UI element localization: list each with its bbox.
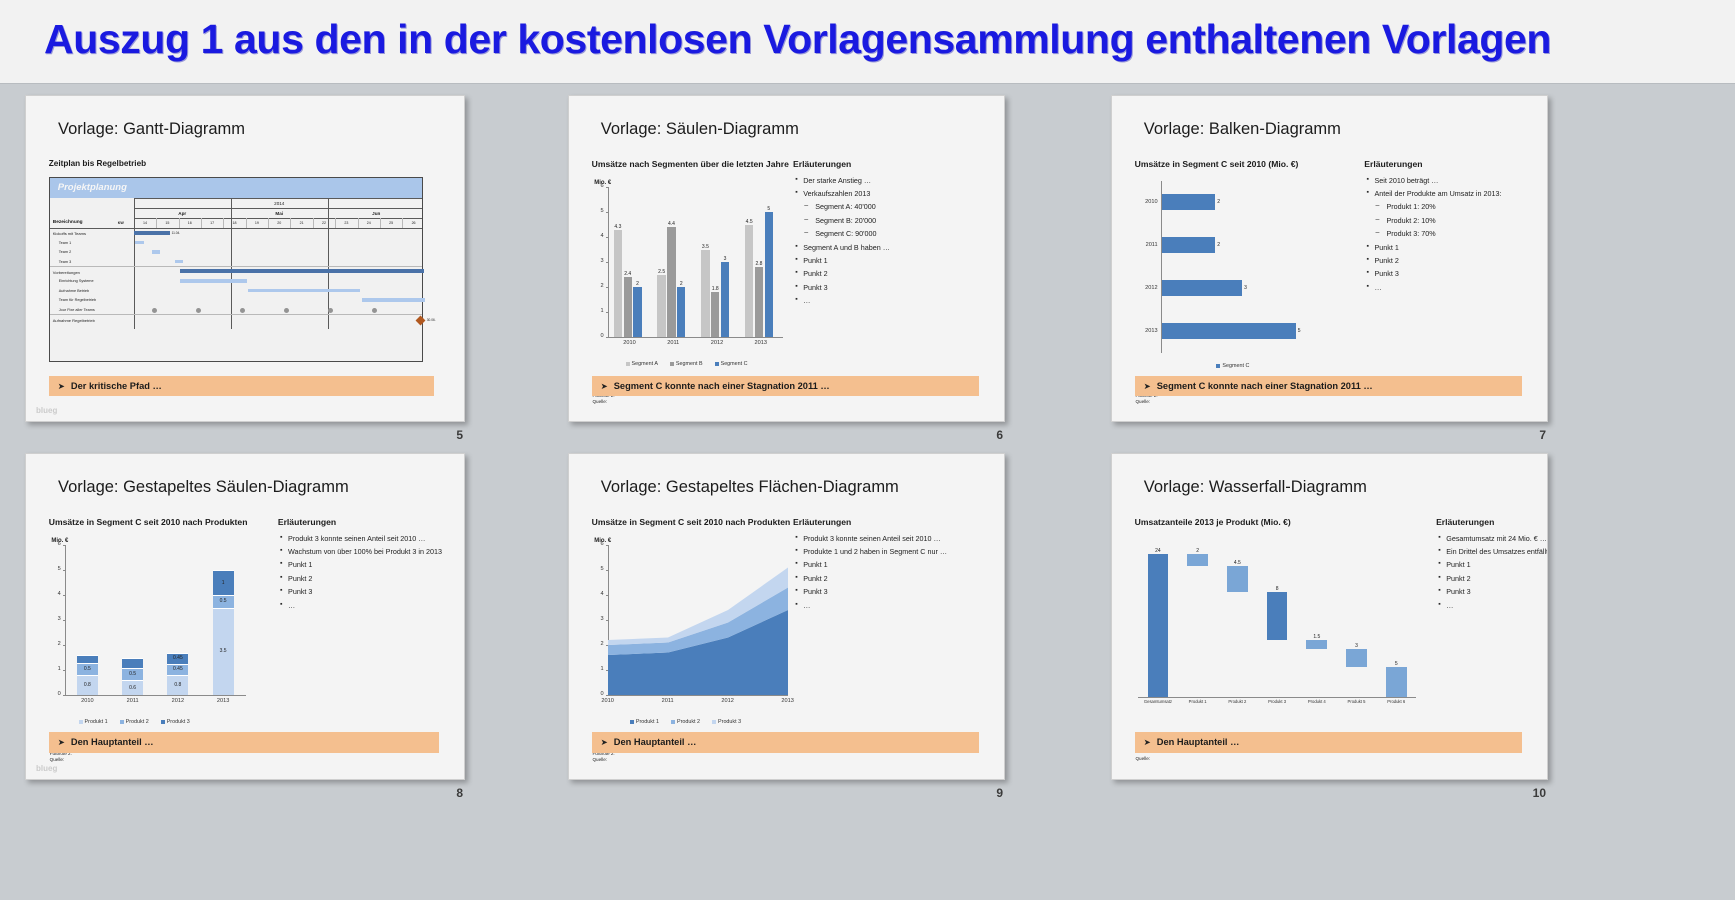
page-title: Auszug 1 aus den in der kostenlosen Vorl… bbox=[44, 16, 1551, 63]
slide-title: Vorlage: Gantt-Diagramm bbox=[58, 120, 245, 139]
bar bbox=[745, 225, 753, 338]
x-axis-tick-label: 2013 bbox=[774, 698, 802, 704]
arrow-right-icon: ➤ bbox=[58, 738, 65, 747]
legend-label: Produkt 2 bbox=[126, 719, 149, 725]
divider bbox=[231, 198, 232, 329]
divider bbox=[223, 218, 224, 228]
bar bbox=[721, 262, 729, 337]
divider bbox=[156, 218, 157, 228]
legend-item: Produkt 2 bbox=[671, 719, 700, 725]
x-axis-tick-label: Gesamtumsatz bbox=[1138, 699, 1178, 704]
legend-swatch bbox=[715, 362, 719, 366]
divider bbox=[179, 218, 180, 228]
gantt-col-head-kw: KW bbox=[118, 221, 124, 225]
chart-caption: Umsätze in Segment C seit 2010 nach Prod… bbox=[49, 517, 248, 527]
list-item: Segment B: 20'000 bbox=[795, 217, 999, 224]
arrow-right-icon: ➤ bbox=[1144, 738, 1151, 747]
y-axis-tick-label: 4 bbox=[49, 591, 61, 597]
chart-caption: Umsätze nach Segmenten über die letzten … bbox=[592, 159, 789, 169]
list-item: Punkt 3 bbox=[280, 588, 460, 595]
gantt-week-label: 15 bbox=[156, 221, 178, 225]
list-item: Segment A: 40'000 bbox=[795, 203, 999, 210]
gantt-week-label: 19 bbox=[246, 221, 268, 225]
bar-value-label: 2.4 bbox=[620, 271, 636, 277]
gantt-milestone-diamond bbox=[415, 315, 425, 325]
bar-value-label: 2 bbox=[1217, 199, 1229, 205]
bar-value-label: 2 bbox=[673, 281, 689, 287]
legend-swatch bbox=[712, 720, 716, 724]
y-axis-tick-label: 6 bbox=[49, 541, 61, 547]
y-axis bbox=[65, 545, 66, 695]
legend-label: Produkt 3 bbox=[167, 719, 190, 725]
divider bbox=[402, 218, 403, 228]
slide-thumbnail-10[interactable]: Vorlage: Wasserfall-Diagramm Umsatzantei… bbox=[1111, 453, 1548, 780]
bar-value-label: 2 bbox=[629, 281, 645, 287]
chart-legend: Produkt 1Produkt 2Produkt 3 bbox=[79, 719, 190, 725]
x-axis-tick-label: Produkt 4 bbox=[1297, 699, 1337, 704]
explanations-title: Erläuterungen bbox=[278, 517, 336, 527]
message-bar[interactable]: ➤ Der kritische Pfad … bbox=[49, 376, 434, 397]
y-axis-tick-label: 0 bbox=[49, 691, 61, 697]
bar-value-label: 8 bbox=[1261, 586, 1294, 592]
legend-label: Produkt 2 bbox=[677, 719, 700, 725]
tick-mark bbox=[606, 212, 608, 213]
legend-item: Produkt 3 bbox=[161, 719, 190, 725]
legend-swatch bbox=[671, 720, 675, 724]
bar bbox=[1162, 280, 1243, 295]
x-axis-tick-label: 2011 bbox=[651, 340, 695, 346]
chart-legend: Produkt 1Produkt 2Produkt 3 bbox=[630, 719, 741, 725]
message-text: Segment C konnte nach einer Stagnation 2… bbox=[614, 381, 830, 391]
chart-legend: Segment C bbox=[1216, 363, 1249, 369]
arrow-right-icon: ➤ bbox=[1144, 382, 1151, 391]
bar bbox=[1162, 323, 1296, 338]
list-item: Produkt 2: 10% bbox=[1366, 217, 1544, 224]
legend-swatch bbox=[1216, 364, 1220, 368]
x-axis-tick-label: Produkt 3 bbox=[1257, 699, 1297, 704]
gantt-week-label: 14 bbox=[134, 221, 156, 225]
explanations-list: Produkt 3 konnte seinen Anteil seit 2010… bbox=[795, 535, 999, 615]
tick-mark bbox=[606, 312, 608, 313]
bar-value-label: 0.8 bbox=[77, 682, 98, 688]
gantt-week-label: 22 bbox=[313, 221, 335, 225]
bar-value-label: 2 bbox=[1217, 242, 1229, 248]
gantt-row-label: Einrichtung Systeme bbox=[59, 279, 94, 283]
bar bbox=[1162, 194, 1216, 209]
explanations-list: Seit 2010 beträgt …Anteil der Produkte a… bbox=[1366, 177, 1544, 298]
bar bbox=[765, 212, 773, 337]
gantt-bar bbox=[134, 231, 170, 235]
x-axis-tick-label: Produkt 2 bbox=[1218, 699, 1258, 704]
gantt-row-label: Team 2 bbox=[59, 250, 71, 254]
explanations-list: Der starke Anstieg …Verkaufszahlen 2013S… bbox=[795, 177, 999, 311]
explanations-title: Erläuterungen bbox=[1364, 159, 1422, 169]
gantt-bar bbox=[248, 289, 360, 293]
message-text: Den Hauptanteil … bbox=[614, 737, 697, 747]
legend-item: Produkt 1 bbox=[79, 719, 108, 725]
gantt-week-label: 18 bbox=[223, 221, 245, 225]
list-item: Anteil der Produkte am Umsatz in 2013: bbox=[1366, 190, 1544, 197]
gantt-month: Jun bbox=[328, 211, 425, 216]
arrow-right-icon: ➤ bbox=[58, 382, 65, 391]
y-axis-tick-label: 3 bbox=[49, 616, 61, 622]
message-text: Den Hauptanteil … bbox=[71, 737, 154, 747]
slide-thumbnail-9[interactable]: Vorlage: Gestapeltes Flächen-Diagramm Um… bbox=[568, 453, 1005, 780]
gantt-row-label: Jour Fixe aller Teams bbox=[59, 308, 95, 312]
explanations-title: Erläuterungen bbox=[1436, 517, 1494, 527]
bar-value-label: 4.5 bbox=[741, 219, 757, 225]
row-divider bbox=[50, 314, 422, 315]
list-item: Punkt 3 bbox=[1438, 588, 1547, 595]
arrow-right-icon: ➤ bbox=[601, 382, 608, 391]
list-item: Punkt 1 bbox=[1438, 561, 1547, 568]
tick-mark bbox=[63, 545, 65, 546]
x-axis-tick-label: Produkt 1 bbox=[1178, 699, 1218, 704]
x-axis bbox=[608, 337, 783, 338]
message-text: Segment C konnte nach einer Stagnation 2… bbox=[1157, 381, 1373, 391]
bar bbox=[1346, 649, 1367, 667]
divider bbox=[313, 218, 314, 228]
tick-mark bbox=[606, 187, 608, 188]
x-axis bbox=[65, 695, 246, 696]
divider bbox=[134, 198, 135, 329]
tick-mark bbox=[606, 287, 608, 288]
bar-value-label: 3.5 bbox=[697, 244, 713, 250]
y-axis-tick-label: 1 bbox=[49, 666, 61, 672]
list-item: Punkt 2 bbox=[795, 270, 999, 277]
y-axis-tick-label: 0 bbox=[592, 333, 604, 339]
divider bbox=[50, 228, 422, 229]
chart-caption: Umsatzanteile 2013 je Produkt (Mio. €) bbox=[1135, 517, 1291, 527]
list-item: … bbox=[795, 602, 999, 609]
chart-legend: Segment ASegment BSegment C bbox=[626, 361, 748, 367]
gantt-week-label: 23 bbox=[335, 221, 357, 225]
slide-7[interactable]: Vorlage: Balken-Diagramm Umsätze in Segm… bbox=[1111, 95, 1548, 422]
list-item: … bbox=[280, 602, 460, 609]
list-item: Punkt 1 bbox=[795, 257, 999, 264]
divider bbox=[290, 218, 291, 228]
y-axis-tick-label: 5 bbox=[49, 566, 61, 572]
gantt-milestone-dot bbox=[284, 308, 289, 313]
gantt-milestone-dot bbox=[152, 308, 157, 313]
bar bbox=[633, 287, 641, 337]
gantt-col-head-name: Bezeichnung bbox=[53, 220, 83, 225]
explanations-list: Gesamtumsatz mit 24 Mio. € …Ein Drittel … bbox=[1438, 535, 1547, 615]
explanations-list: Produkt 3 konnte seinen Anteil seit 2010… bbox=[280, 535, 460, 615]
legend-swatch bbox=[120, 720, 124, 724]
bar-value-label: 0.45 bbox=[167, 655, 188, 661]
divider bbox=[201, 218, 202, 228]
slide-thumbnail-6[interactable]: Vorlage: Säulen-Diagramm Umsätze nach Se… bbox=[568, 95, 1005, 422]
slide-title: Vorlage: Gestapeltes Flächen-Diagramm bbox=[601, 478, 899, 497]
bar bbox=[1267, 592, 1288, 640]
x-axis-tick-label: 2010 bbox=[594, 698, 622, 704]
gantt-row-label: Kickoffs mit Teams bbox=[53, 231, 86, 236]
y-axis-tick-label: 2012 bbox=[1137, 285, 1158, 291]
legend-item: Produkt 2 bbox=[120, 719, 149, 725]
slide-thumbnail-5[interactable]: Vorlage: Gantt-Diagramm Zeitplan bis Reg… bbox=[25, 95, 465, 422]
tick-mark bbox=[606, 262, 608, 263]
slide-9[interactable]: Vorlage: Gestapeltes Flächen-Diagramm Um… bbox=[568, 453, 1005, 780]
gantt-week-label: 24 bbox=[358, 221, 380, 225]
list-item: Gesamtumsatz mit 24 Mio. € … bbox=[1438, 535, 1547, 542]
message-text: Der kritische Pfad … bbox=[71, 381, 162, 391]
y-axis-tick-label: 2 bbox=[49, 641, 61, 647]
list-item: Produkt 1: 20% bbox=[1366, 203, 1544, 210]
message-bar[interactable]: ➤ Segment C konnte nach einer Stagnation… bbox=[1135, 376, 1522, 397]
list-item: Punkt 3 bbox=[795, 588, 999, 595]
gantt-bar bbox=[180, 279, 247, 283]
bar-value-label: 5 bbox=[761, 206, 777, 212]
slide-number: 9 bbox=[996, 786, 1003, 800]
x-axis-tick-label: 2012 bbox=[155, 698, 200, 704]
tick-mark bbox=[63, 695, 65, 696]
legend-swatch bbox=[79, 720, 83, 724]
legend-item: Segment B bbox=[670, 361, 703, 367]
bar bbox=[755, 267, 763, 337]
slide-number: 10 bbox=[1533, 786, 1546, 800]
chart-caption: Umsätze in Segment C seit 2010 nach Prod… bbox=[592, 517, 791, 527]
legend-label: Segment C bbox=[1222, 363, 1249, 369]
slide-6[interactable]: Vorlage: Säulen-Diagramm Umsätze nach Se… bbox=[568, 95, 1005, 422]
arrow-right-icon: ➤ bbox=[601, 738, 608, 747]
chart-caption: Zeitplan bis Regelbetrieb bbox=[49, 159, 146, 168]
source-note: Quelle: bbox=[592, 399, 775, 406]
bar bbox=[677, 287, 685, 337]
bar-value-label: 4.5 bbox=[1221, 560, 1254, 566]
source-note: Quelle: bbox=[1135, 399, 1331, 406]
stacked-column-chart[interactable]: 01234560.80.520100.60.520110.80.450.4520… bbox=[49, 545, 246, 708]
legend-item: Segment A bbox=[626, 361, 658, 367]
gantt-bar bbox=[175, 260, 183, 264]
x-axis-tick-label: 2010 bbox=[65, 698, 110, 704]
x-axis-tick-label: 2012 bbox=[714, 698, 742, 704]
y-axis-tick-label: 2013 bbox=[1137, 328, 1158, 334]
source-note: Quelle: bbox=[50, 757, 225, 764]
source-note: Quelle: bbox=[592, 757, 770, 764]
x-axis-tick-label: Produkt 5 bbox=[1337, 699, 1377, 704]
bar bbox=[1162, 237, 1216, 252]
list-item: Punkt 2 bbox=[280, 575, 460, 582]
slide-number: 8 bbox=[456, 786, 463, 800]
slide-8[interactable]: Vorlage: Gestapeltes Säulen-Diagramm Ums… bbox=[25, 453, 465, 780]
bar-value-label: 0.6 bbox=[122, 685, 143, 691]
gantt-bar bbox=[135, 241, 144, 245]
message-bar[interactable]: ➤ Segment C konnte nach einer Stagnation… bbox=[592, 376, 979, 397]
divider bbox=[358, 218, 359, 228]
gantt-bar bbox=[152, 250, 160, 254]
bar-value-label: 2 bbox=[1181, 548, 1214, 554]
y-axis-tick-label: 1 bbox=[592, 308, 604, 314]
slide-title: Vorlage: Wasserfall-Diagramm bbox=[1144, 478, 1367, 497]
tick-mark bbox=[63, 645, 65, 646]
bar bbox=[701, 250, 709, 338]
gantt-milestone-dot bbox=[196, 308, 201, 313]
x-axis-tick-label: 2010 bbox=[608, 340, 652, 346]
gantt-week-label: 25 bbox=[380, 221, 402, 225]
tick-mark bbox=[63, 620, 65, 621]
slide-title: Vorlage: Balken-Diagramm bbox=[1144, 120, 1341, 139]
x-axis-tick-label: 2013 bbox=[201, 698, 246, 704]
list-item: Produkt 3 konnte seinen Anteil seit 2010… bbox=[795, 535, 999, 542]
slide-number: 7 bbox=[1539, 428, 1546, 442]
list-item: Punkt 1 bbox=[1366, 244, 1544, 251]
tick-mark bbox=[63, 670, 65, 671]
gantt-bar bbox=[362, 298, 425, 302]
area-series bbox=[592, 545, 788, 708]
bar-value-label: 3 bbox=[1340, 643, 1373, 649]
gantt-date-note: 11.04. bbox=[172, 231, 181, 235]
gantt-row-label: Team 1 bbox=[59, 241, 71, 245]
bar-value-label: 0.45 bbox=[167, 666, 188, 672]
watermark: blueg bbox=[36, 764, 57, 773]
divider bbox=[246, 218, 247, 228]
y-axis-tick-label: 2010 bbox=[1137, 199, 1158, 205]
gantt-month: Mai bbox=[231, 211, 328, 216]
slide-thumbnail-8[interactable]: Vorlage: Gestapeltes Säulen-Diagramm Ums… bbox=[25, 453, 465, 780]
legend-swatch bbox=[630, 720, 634, 724]
list-item: Punkt 3 bbox=[795, 284, 999, 291]
gantt-band-label: Projektplanung bbox=[58, 182, 127, 193]
bar bbox=[1227, 566, 1248, 593]
list-item: Produkt 3: 70% bbox=[1366, 230, 1544, 237]
legend-label: Segment A bbox=[632, 361, 658, 367]
message-bar[interactable]: ➤ Den Hauptanteil … bbox=[1135, 732, 1522, 753]
bar bbox=[614, 230, 622, 338]
gantt-month: Apr bbox=[134, 211, 231, 216]
bar-value-label: 0.5 bbox=[77, 666, 98, 672]
gantt-year: 2014 bbox=[134, 201, 425, 206]
y-axis-tick-label: 2011 bbox=[1137, 242, 1158, 248]
gantt-row-label: Team für Regelbetrieb bbox=[59, 298, 96, 302]
legend-item: Produkt 3 bbox=[712, 719, 741, 725]
slide-5[interactable]: Vorlage: Gantt-Diagramm Zeitplan bis Reg… bbox=[25, 95, 465, 422]
x-axis-tick-label: 2012 bbox=[695, 340, 739, 346]
list-item: Ein Drittel des Umsatzes entfällt auf Pr… bbox=[1438, 548, 1547, 555]
x-axis-tick-label: 2011 bbox=[654, 698, 682, 704]
column-chart[interactable]: 01234564.32.4220102.54.4220113.51.832012… bbox=[592, 187, 783, 350]
list-item: Punkt 2 bbox=[795, 575, 999, 582]
bar bbox=[1148, 554, 1169, 697]
bar bbox=[711, 292, 719, 337]
x-axis-tick-label: 2011 bbox=[110, 698, 155, 704]
list-item: Punkt 2 bbox=[1438, 575, 1547, 582]
gantt-milestone-dot bbox=[240, 308, 245, 313]
list-item: Punkt 1 bbox=[280, 561, 460, 568]
legend-swatch bbox=[626, 362, 630, 366]
message-bar[interactable]: ➤ Den Hauptanteil … bbox=[592, 732, 979, 753]
x-axis bbox=[1138, 697, 1416, 698]
gantt-band: Projektplanung bbox=[50, 178, 422, 198]
legend-swatch bbox=[161, 720, 165, 724]
bar bbox=[657, 275, 665, 338]
bar-value-label: 3 bbox=[1244, 285, 1256, 291]
gantt-week-label: 17 bbox=[201, 221, 223, 225]
list-item: … bbox=[795, 297, 999, 304]
gantt-milestone-dot bbox=[372, 308, 377, 313]
divider bbox=[134, 208, 422, 209]
list-item: Punkt 1 bbox=[795, 561, 999, 568]
list-item: Punkt 2 bbox=[1366, 257, 1544, 264]
list-item: Segment A und B haben … bbox=[795, 244, 999, 251]
gantt-row-label: Team 3 bbox=[59, 260, 71, 264]
message-text: Den Hauptanteil … bbox=[1157, 737, 1240, 747]
gantt-chart[interactable]: Projektplanung 2014 Apr Mai Jun Bezeichn… bbox=[49, 177, 423, 362]
bar-chart[interactable]: 22010220113201252013 bbox=[1135, 181, 1344, 353]
list-item: Produkte 1 und 2 haben in Segment C nur … bbox=[795, 548, 999, 555]
gantt-milestone-dot bbox=[328, 308, 333, 313]
bar bbox=[1306, 640, 1327, 649]
chart-caption: Umsätze in Segment C seit 2010 (Mio. €) bbox=[1135, 159, 1299, 169]
slide-thumbnail-7[interactable]: Vorlage: Balken-Diagramm Umsätze in Segm… bbox=[1111, 95, 1548, 422]
x-axis-tick-label: Produkt 6 bbox=[1376, 699, 1416, 704]
bar-value-label: 5 bbox=[1380, 661, 1413, 667]
list-item: Seit 2010 beträgt … bbox=[1366, 177, 1544, 184]
divider bbox=[268, 218, 269, 228]
y-axis-tick-label: 3 bbox=[592, 258, 604, 264]
bar-value-label: 1 bbox=[213, 580, 234, 586]
list-item: Segment C: 90'000 bbox=[795, 230, 999, 237]
waterfall-chart[interactable]: 24Gesamtumsatz2Produkt 14.5Produkt 28Pro… bbox=[1138, 542, 1416, 711]
bar-value-label: 0.8 bbox=[167, 682, 188, 688]
gantt-bar bbox=[180, 269, 424, 273]
gantt-week-label: 16 bbox=[179, 221, 201, 225]
gantt-date-note: 30.06. bbox=[427, 318, 436, 322]
gantt-week-label: 21 bbox=[290, 221, 312, 225]
stacked-area-chart[interactable]: 01234562010201120122013 bbox=[592, 545, 788, 708]
bar-value-label: 5 bbox=[1298, 328, 1310, 334]
legend-item: Segment C bbox=[715, 361, 748, 367]
list-item: Produkt 3 konnte seinen Anteil seit 2010… bbox=[280, 535, 460, 542]
gantt-row-label: Aufnahme Betrieb bbox=[59, 289, 89, 293]
divider bbox=[134, 198, 422, 199]
list-item: Verkaufszahlen 2013 bbox=[795, 190, 999, 197]
legend-item: Produkt 1 bbox=[630, 719, 659, 725]
page-title-banner: Auszug 1 aus den in der kostenlosen Vorl… bbox=[0, 0, 1735, 84]
bar bbox=[1187, 554, 1208, 566]
watermark: blueg bbox=[36, 406, 57, 415]
y-axis-tick-label: 4 bbox=[592, 233, 604, 239]
list-item: Der starke Anstieg … bbox=[795, 177, 999, 184]
explanations-title: Erläuterungen bbox=[793, 159, 851, 169]
divider bbox=[380, 218, 381, 228]
legend-label: Produkt 1 bbox=[85, 719, 108, 725]
legend-label: Produkt 3 bbox=[718, 719, 741, 725]
legend-label: Segment C bbox=[721, 361, 748, 367]
legend-label: Produkt 1 bbox=[636, 719, 659, 725]
tick-mark bbox=[606, 237, 608, 238]
slide-10[interactable]: Vorlage: Wasserfall-Diagramm Umsatzantei… bbox=[1111, 453, 1548, 780]
list-item: … bbox=[1366, 284, 1544, 291]
slide-number: 6 bbox=[996, 428, 1003, 442]
bar-value-label: 0.5 bbox=[213, 598, 234, 604]
tick-mark bbox=[606, 337, 608, 338]
gantt-week-label: 20 bbox=[268, 221, 290, 225]
bar bbox=[1386, 667, 1407, 697]
tick-mark bbox=[63, 595, 65, 596]
bar-segment bbox=[77, 655, 98, 663]
bar-value-label: 1.5 bbox=[1300, 634, 1333, 640]
y-axis-tick-label: 2 bbox=[592, 283, 604, 289]
gantt-week-label: 26 bbox=[402, 221, 424, 225]
message-bar[interactable]: ➤ Den Hauptanteil … bbox=[49, 732, 439, 753]
row-divider bbox=[50, 266, 422, 267]
explanations-title: Erläuterungen bbox=[793, 517, 851, 527]
divider bbox=[134, 218, 422, 219]
slide-title: Vorlage: Gestapeltes Säulen-Diagramm bbox=[58, 478, 349, 497]
legend-item: Segment C bbox=[1216, 363, 1249, 369]
legend-swatch bbox=[670, 362, 674, 366]
